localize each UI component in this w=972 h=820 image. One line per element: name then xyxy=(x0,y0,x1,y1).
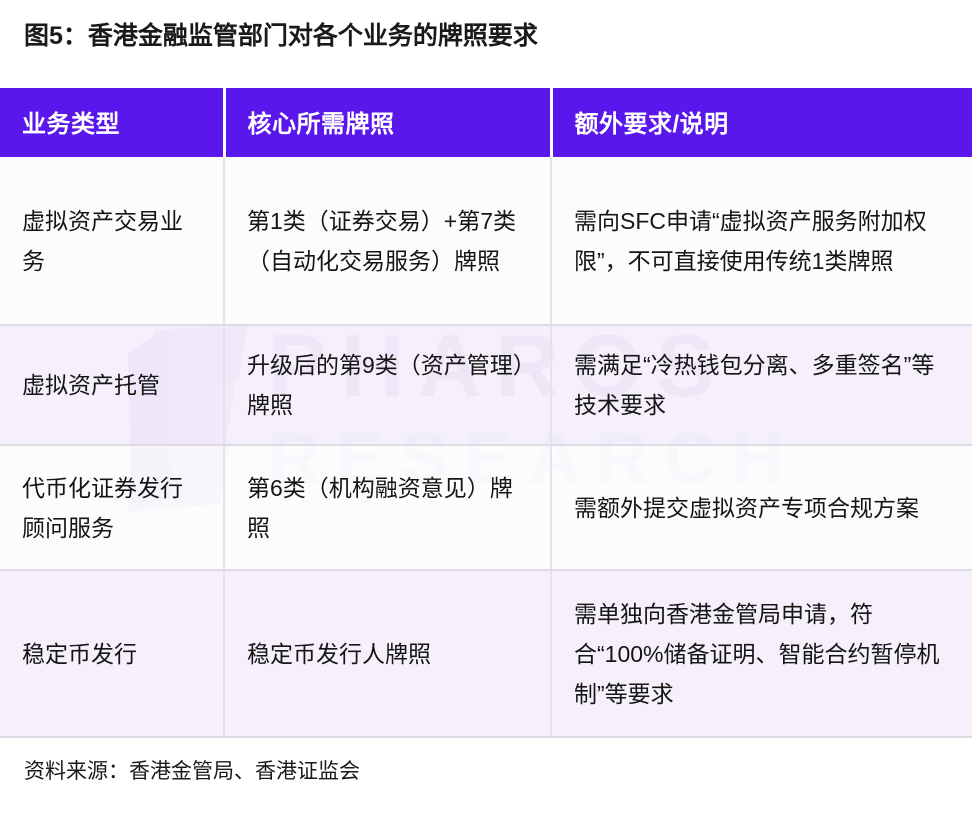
cell-business-type: 虚拟资产交易业务 xyxy=(0,157,224,325)
figure-page: 图5：香港金融监管部门对各个业务的牌照要求 PHAROS RESEARCH 业务… xyxy=(0,0,972,820)
table-header: 业务类型 核心所需牌照 额外要求/说明 xyxy=(0,88,972,157)
cell-core-license: 升级后的第9类（资产管理）牌照 xyxy=(224,325,551,445)
column-header-business-type: 业务类型 xyxy=(0,88,224,157)
cell-core-license: 第6类（机构融资意见）牌照 xyxy=(224,445,551,570)
license-requirements-table: 业务类型 核心所需牌照 额外要求/说明 虚拟资产交易业务 第1类（证券交易）+第… xyxy=(0,88,972,738)
table-row: 代币化证券发行顾问服务 第6类（机构融资意见）牌照 需额外提交虚拟资产专项合规方… xyxy=(0,445,972,570)
column-header-extra-requirement: 额外要求/说明 xyxy=(551,88,972,157)
column-header-core-license: 核心所需牌照 xyxy=(224,88,551,157)
figure-title: 图5：香港金融监管部门对各个业务的牌照要求 xyxy=(24,17,538,55)
table-row: 虚拟资产交易业务 第1类（证券交易）+第7类（自动化交易服务）牌照 需向SFC申… xyxy=(0,157,972,325)
cell-extra-requirement: 需满足“冷热钱包分离、多重签名”等技术要求 xyxy=(551,325,972,445)
license-table-container: 业务类型 核心所需牌照 额外要求/说明 虚拟资产交易业务 第1类（证券交易）+第… xyxy=(0,88,972,738)
cell-business-type: 虚拟资产托管 xyxy=(0,325,224,445)
table-body: 虚拟资产交易业务 第1类（证券交易）+第7类（自动化交易服务）牌照 需向SFC申… xyxy=(0,157,972,737)
cell-business-type: 代币化证券发行顾问服务 xyxy=(0,445,224,570)
cell-extra-requirement: 需向SFC申请“虚拟资产服务附加权限”，不可直接使用传统1类牌照 xyxy=(551,157,972,325)
cell-extra-requirement: 需单独向香港金管局申请，符合“100%储备证明、智能合约暂停机制”等要求 xyxy=(551,570,972,737)
table-row: 稳定币发行 稳定币发行人牌照 需单独向香港金管局申请，符合“100%储备证明、智… xyxy=(0,570,972,737)
table-header-row: 业务类型 核心所需牌照 额外要求/说明 xyxy=(0,88,972,157)
table-row: 虚拟资产托管 升级后的第9类（资产管理）牌照 需满足“冷热钱包分离、多重签名”等… xyxy=(0,325,972,445)
cell-core-license: 稳定币发行人牌照 xyxy=(224,570,551,737)
cell-core-license: 第1类（证券交易）+第7类（自动化交易服务）牌照 xyxy=(224,157,551,325)
source-note: 资料来源：香港金管局、香港证监会 xyxy=(24,757,360,787)
cell-extra-requirement: 需额外提交虚拟资产专项合规方案 xyxy=(551,445,972,570)
cell-business-type: 稳定币发行 xyxy=(0,570,224,737)
